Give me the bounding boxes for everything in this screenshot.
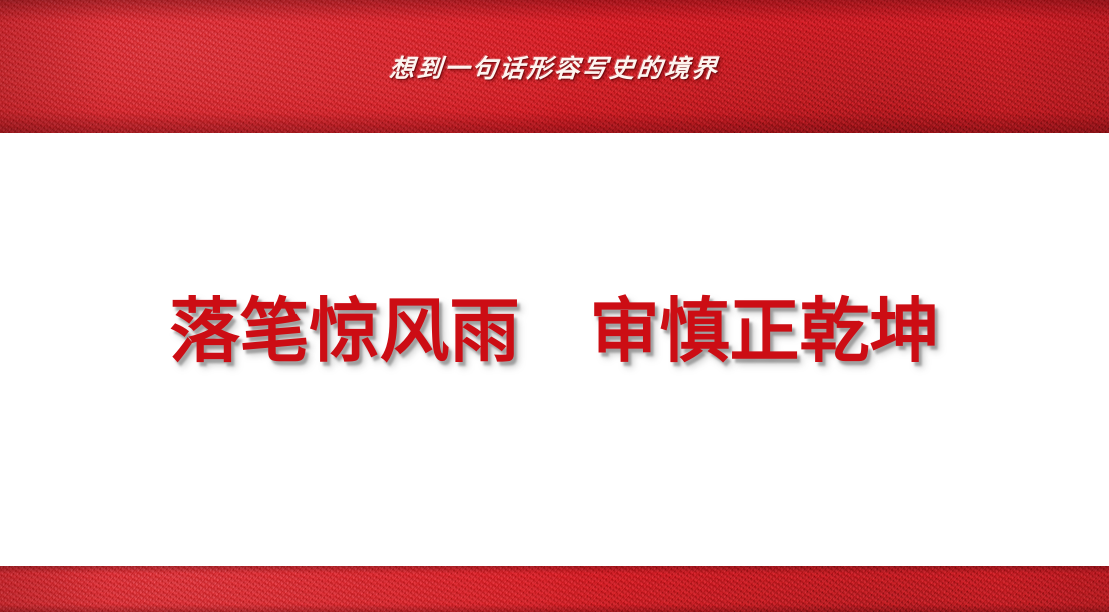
- bottom-banner-texture: [0, 566, 1109, 612]
- slide-body: 落笔惊风雨 审慎正乾坤: [0, 133, 1109, 566]
- presentation-slide: 想到一句话形容写史的境界 落笔惊风雨 审慎正乾坤: [0, 0, 1109, 612]
- slide-subtitle: 想到一句话形容写史的境界: [0, 54, 1109, 84]
- page-title: 落笔惊风雨 审慎正乾坤: [0, 290, 1109, 372]
- bottom-banner: [0, 566, 1109, 612]
